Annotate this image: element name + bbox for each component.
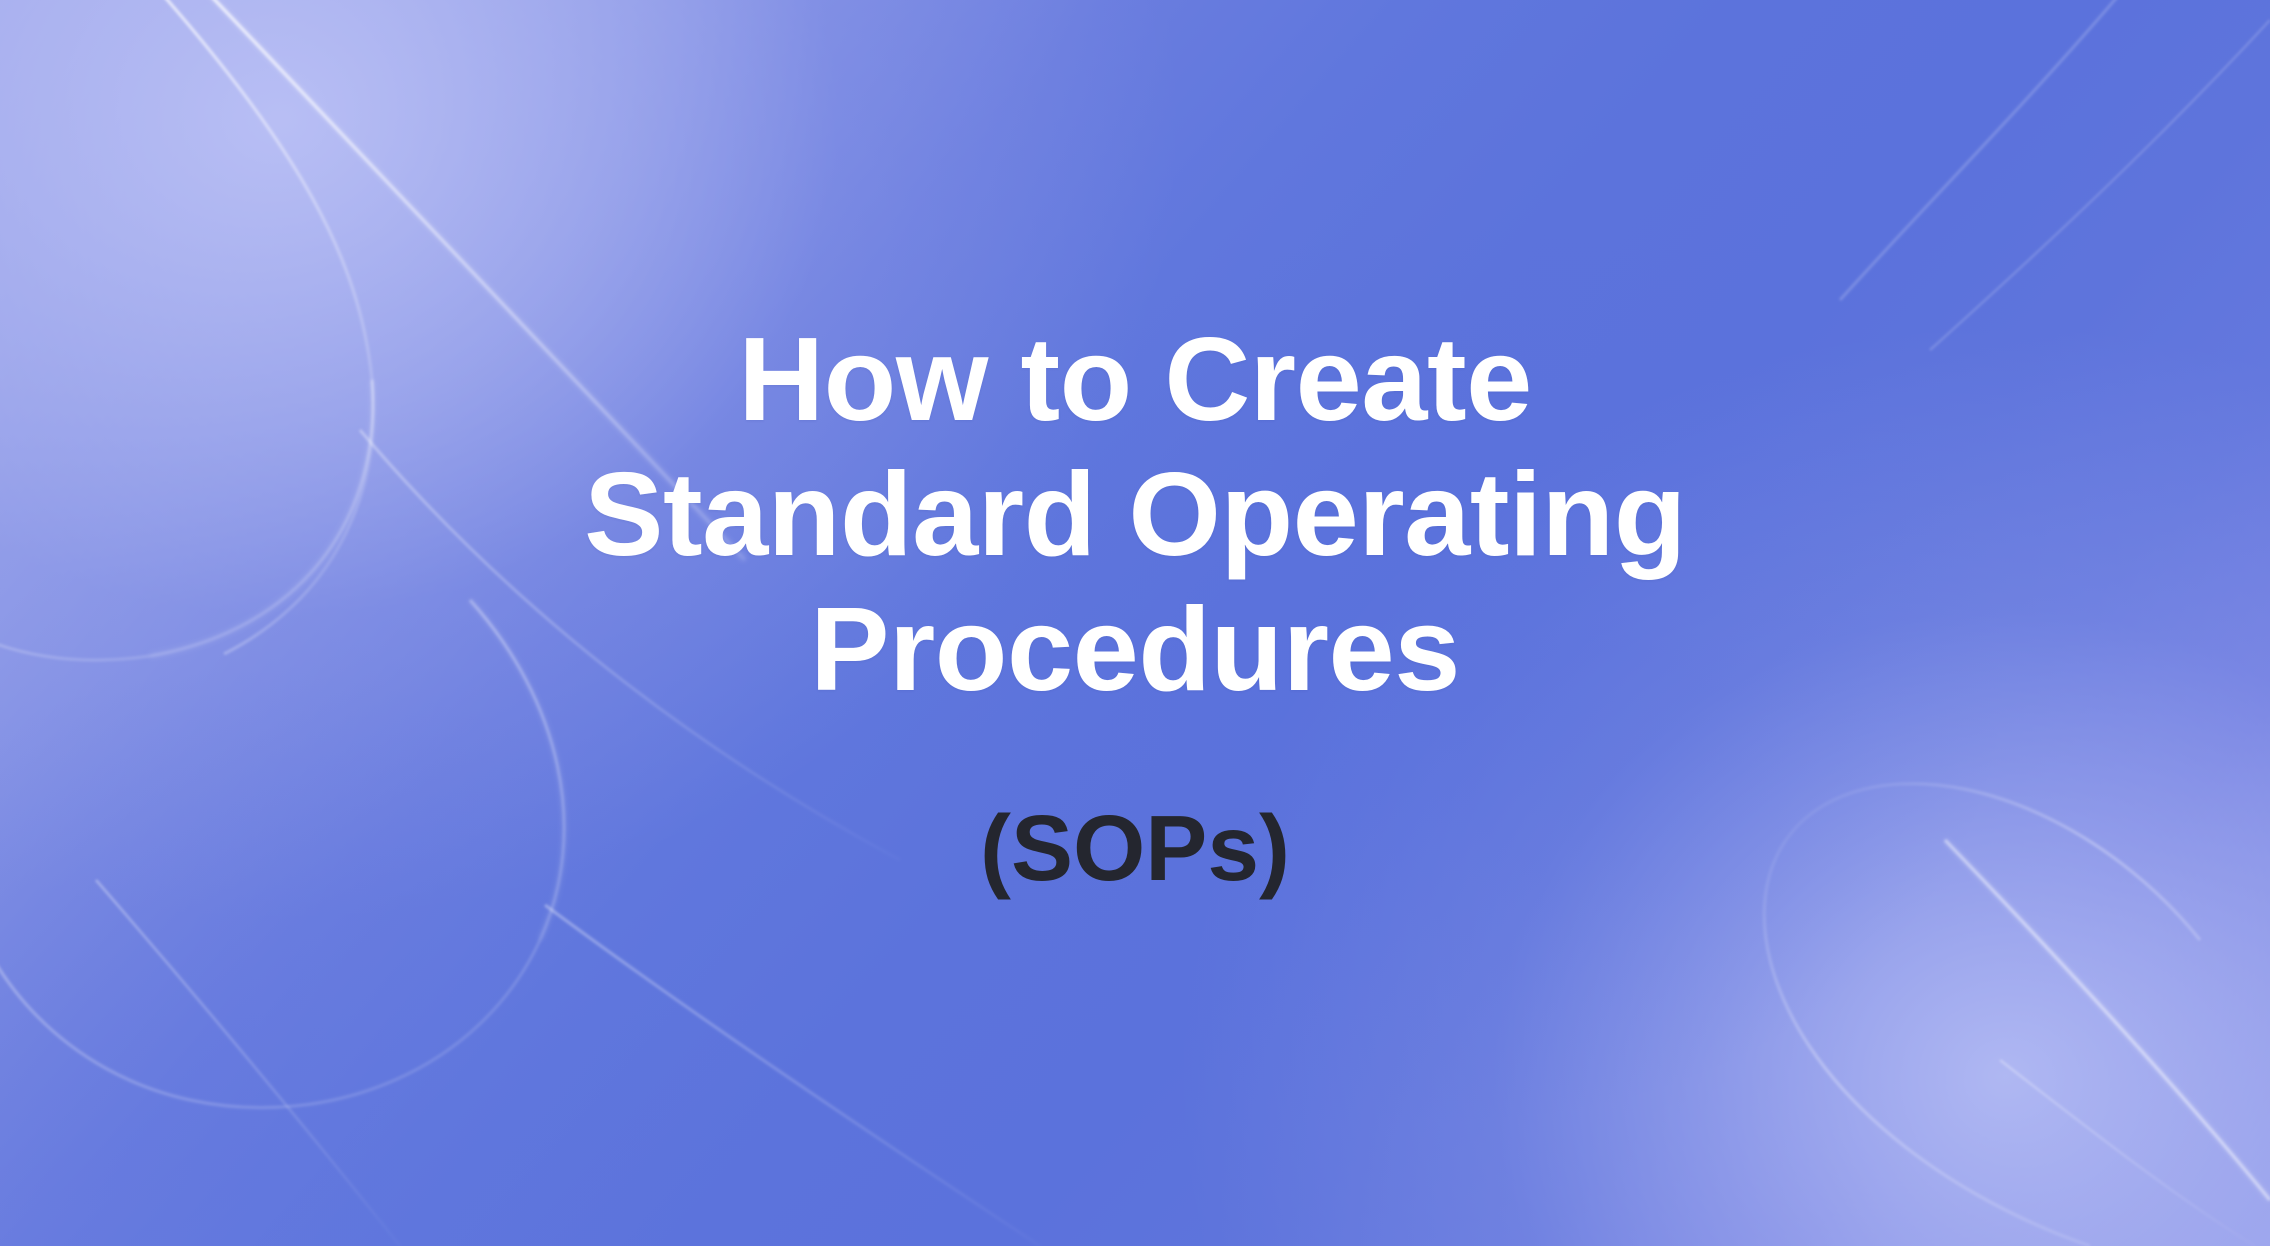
slide-text-block: How to Create Standard Operating Procedu… xyxy=(0,0,2270,1246)
title-slide: How to Create Standard Operating Procedu… xyxy=(0,0,2270,1246)
title-line-2: Standard Operating xyxy=(584,447,1686,582)
title-line-1: How to Create xyxy=(584,312,1686,447)
title-line-3: Procedures xyxy=(584,582,1686,717)
page-subtitle: (SOPs) xyxy=(980,797,1290,899)
page-title: How to Create Standard Operating Procedu… xyxy=(524,312,1746,717)
